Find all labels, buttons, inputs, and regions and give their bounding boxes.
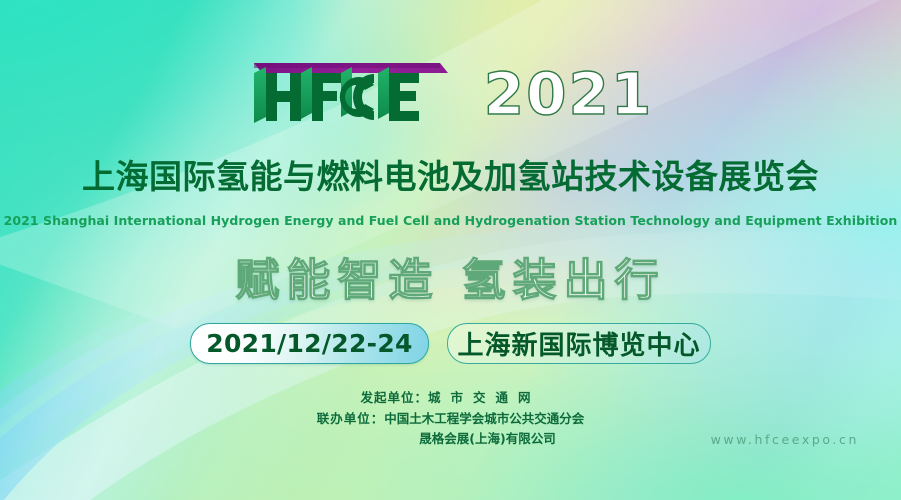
page-title-en: 2021 Shanghai International Hydrogen Ene… — [0, 213, 901, 228]
page-title-cn: 上海国际氢能与燃料电池及加氢站技术设备展览会 — [0, 158, 901, 197]
logo-row: 2021 — [0, 55, 901, 143]
website-url[interactable]: www.hfceexpo.cn — [711, 432, 859, 447]
organizer-coorg-label: 联办单位： — [317, 411, 385, 426]
organizer-coorg-value: 中国土木工程学会城市公共交通分会 — [384, 411, 584, 426]
slogan: 赋能智造 氢装出行 — [0, 258, 901, 304]
organizer-coorg-value-2: 晟格会展(上海)有限公司 — [419, 431, 555, 446]
organizer-line-coorg: 联办单位：中国土木工程学会城市公共交通分会 — [0, 409, 901, 430]
poster-canvas: 2021 上海国际氢能与燃料电池及加氢站技术设备展览会 2021 Shangha… — [0, 0, 901, 500]
logo-year: 2021 — [484, 65, 653, 123]
organizer-host-label: 发起单位： — [360, 390, 428, 405]
poster-content: 2021 上海国际氢能与燃料电池及加氢站技术设备展览会 2021 Shangha… — [0, 0, 901, 500]
organizer-line-host: 发起单位：城市交通网 — [0, 388, 901, 409]
badge-row: 2021/12/22-24 上海新国际博览中心 — [0, 323, 901, 364]
organizer-host-value: 城市交通网 — [428, 390, 541, 405]
venue-badge: 上海新国际博览中心 — [447, 323, 711, 364]
hfce-logo-icon — [248, 55, 448, 137]
date-badge: 2021/12/22-24 — [190, 323, 429, 364]
